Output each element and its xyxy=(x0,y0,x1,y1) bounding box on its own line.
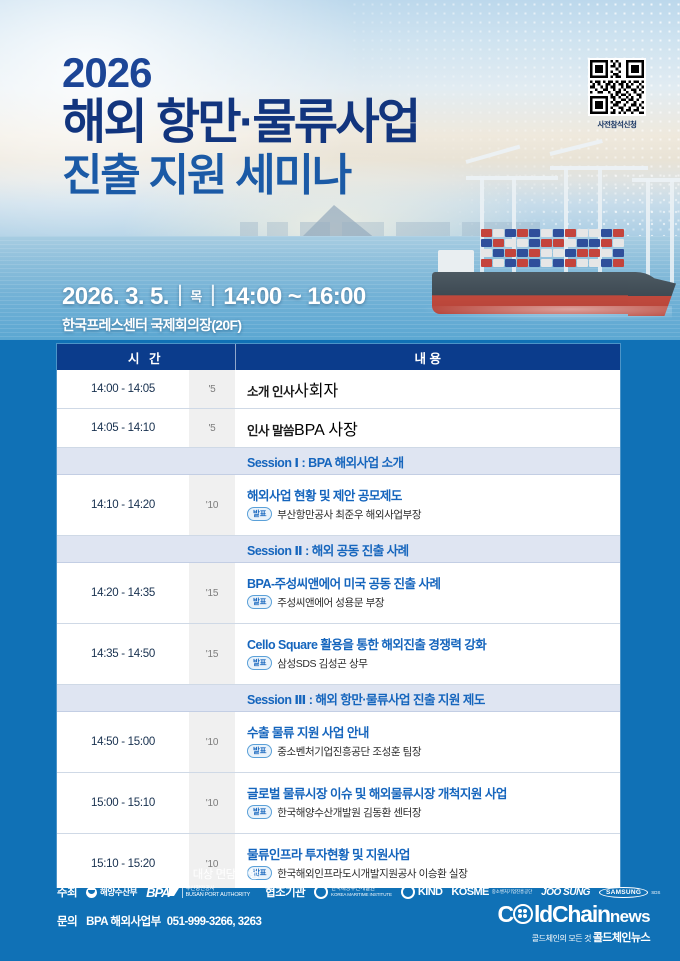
coldchain-wordmark: CldChainnews xyxy=(498,903,650,926)
session-label: Session Ⅰ : BPA 해외사업 소개 xyxy=(235,448,620,475)
tagline-big: 콜드체인뉴스 xyxy=(593,932,650,944)
row-title: Cello Square 활용을 통한 해외진출 경쟁력 강화 xyxy=(247,638,620,653)
row-content: Cello Square 활용을 통한 해외진출 경쟁력 강화 발표 삼성SDS… xyxy=(235,624,620,685)
tagline-small: 콜드체인의 모든 것 xyxy=(532,934,591,943)
logo-bpa: BPA 부산항만공사 BUSAN PORT AUTHORITY xyxy=(146,885,250,900)
logo-mof-label: 해양수산부 xyxy=(100,886,137,898)
logo-bpa-sub-en: BUSAN PORT AUTHORITY xyxy=(186,892,251,898)
schedule-table: 시 간 내 용 14:00 - 14:05 '5 소개 인사사회자 14:05 … xyxy=(57,344,620,935)
row-time: 14:00 - 14:05 xyxy=(57,370,189,409)
row-speaker: 발표 부산항만공사 최준우 해외사업부장 xyxy=(247,507,620,522)
row-time: 15:00 - 15:10 xyxy=(57,773,189,834)
logo-kind: KIND xyxy=(401,885,443,899)
session-header-row: Session Ⅲ : 해외 항만·물류사업 진출 지원 제도 xyxy=(57,685,620,712)
ship-bridge xyxy=(438,250,474,274)
session-spacer-duration xyxy=(189,685,235,712)
session-spacer-duration xyxy=(189,536,235,563)
session-spacer xyxy=(57,536,189,563)
speaker-name: 중소벤처기업진흥공단 조성훈 팀장 xyxy=(277,744,421,759)
event-date: 2026. 3. 5. xyxy=(62,283,169,310)
poster-title-line2: 진출 지원 세미나 xyxy=(62,151,582,200)
session-spacer-duration xyxy=(189,448,235,475)
presentation-badge: 발표 xyxy=(247,744,272,757)
session-label: Session Ⅱ : 해외 공동 진출 사례 xyxy=(235,536,620,563)
row-duration: '5 xyxy=(189,370,235,409)
logo-kmi-en: KOREA MARITIME INSTITUTE xyxy=(331,892,392,897)
row-content: BPA-주성씨앤에어 미국 공동 진출 사례 발표 주성씨앤에어 성용문 부장 xyxy=(235,563,620,624)
row-title: 해외사업 현황 및 제안 공모제도 xyxy=(247,489,620,504)
table-row: 15:00 - 15:10 '10 글로벌 물류시장 이슈 및 해외물류시장 개… xyxy=(57,773,620,834)
brand-oldchain: ldChain xyxy=(534,901,610,927)
logo-kosme: KOSME 중소벤처기업진흥공단 xyxy=(451,886,532,898)
container-stack xyxy=(480,238,624,247)
event-datetime: 2026. 3. 5.ㅣ목ㅣ14:00 ~ 16:00 xyxy=(62,276,366,311)
row-content: 소개 인사사회자 xyxy=(235,370,620,409)
table-row: 14:10 - 14:20 '10 해외사업 현황 및 제안 공모제도 발표 부… xyxy=(57,475,620,536)
ship-wake xyxy=(420,306,672,322)
brand-news: news xyxy=(610,907,650,926)
row-subtitle: BPA 사장 xyxy=(294,422,358,439)
speaker-name: 한국해외인프라도시개발지원공사 이승환 실장 xyxy=(277,866,467,881)
table-row: 14:50 - 15:00 '10 수출 물류 지원 사업 안내 발표 중소벤처… xyxy=(57,712,620,773)
session-spacer xyxy=(57,448,189,475)
speaker-name: 부산항만공사 최준우 해외사업부장 xyxy=(277,507,421,522)
contact-line: 문의BPA 해외사업부051-999-3266, 3263 xyxy=(57,913,261,929)
event-day-of-week: 목 xyxy=(190,289,201,304)
column-header-time: 시 간 xyxy=(57,344,235,370)
logo-kosme-subtext: 중소벤처기업진흥공단 xyxy=(492,889,532,895)
row-title: 글로벌 물류시장 이슈 및 해외물류시장 개척지원 사업 xyxy=(247,787,620,802)
row-speaker: 발표 중소벤처기업진흥공단 조성훈 팀장 xyxy=(247,744,620,759)
logo-bpa-sub-ko: 부산항만공사 xyxy=(186,886,215,892)
row-duration: '10 xyxy=(189,773,235,834)
logo-bpa-subtext: 부산항만공사 BUSAN PORT AUTHORITY xyxy=(182,886,251,899)
row-content: 수출 물류 지원 사업 안내 발표 중소벤처기업진흥공단 조성훈 팀장 xyxy=(235,712,620,773)
poster-year: 2026 xyxy=(62,52,582,94)
contact-department: BPA 해외사업부 xyxy=(86,916,161,928)
row-speaker: 발표 한국해외인프라도시개발지원공사 이승환 실장 xyxy=(247,866,620,881)
poster-title-line1: 해외 항만·물류사업 xyxy=(62,98,582,149)
row-duration: '15 xyxy=(189,624,235,685)
partner-label: 협조기관 xyxy=(265,884,305,900)
logo-kmi-text: 한국해양수산개발원 KOREA MARITIME INSTITUTE xyxy=(331,886,392,899)
separator-bar-left: ㅣ xyxy=(169,283,190,310)
seminar-poster: 사전참석신청 2026 해외 항만·물류사업 진출 지원 세미나 2026. 3… xyxy=(0,0,680,961)
event-venue: 한국프레스센터 국제회의장(20F) xyxy=(62,315,366,335)
row-duration: '10 xyxy=(189,475,235,536)
kmi-ring-icon xyxy=(314,885,328,899)
logo-samsung-label: SAMSUNG xyxy=(599,887,648,898)
row-time: 14:20 - 14:35 xyxy=(57,563,189,624)
logo-kmi: 한국해양수산개발원 KOREA MARITIME INSTITUTE xyxy=(314,885,392,899)
row-content: 해외사업 현황 및 제안 공모제도 발표 부산항만공사 최준우 해외사업부장 xyxy=(235,475,620,536)
coldchain-tagline: 콜드체인의 모든 것 콜드체인뉴스 xyxy=(498,929,650,945)
bpa-triangle-icon xyxy=(169,888,179,896)
row-content: 인사 말씀BPA 사장 xyxy=(235,409,620,448)
logo-samsung-sds: SAMSUNG SDS xyxy=(599,887,660,898)
event-time-range: 14:00 ~ 16:00 xyxy=(223,283,365,310)
event-meta: 2026. 3. 5.ㅣ목ㅣ14:00 ~ 16:00 한국프레스센터 국제회의… xyxy=(62,276,366,335)
wave-icon xyxy=(86,887,97,898)
row-speaker: 발표 삼성SDS 김성곤 상무 xyxy=(247,656,620,671)
container-stack xyxy=(480,228,624,237)
session-label: Session Ⅲ : 해외 항만·물류사업 진출 지원 제도 xyxy=(235,685,620,712)
row-title: 소개 인사 xyxy=(247,385,294,399)
contact-telephone: 051-999-3266, 3263 xyxy=(167,916,262,928)
row-time: 14:50 - 15:00 xyxy=(57,712,189,773)
schedule-body: 14:00 - 14:05 '5 소개 인사사회자 14:05 - 14:10 … xyxy=(57,370,620,935)
table-row: 14:00 - 14:05 '5 소개 인사사회자 xyxy=(57,370,620,409)
row-content: 글로벌 물류시장 이슈 및 해외물류시장 개척지원 사업 발표 한국해양수산개발… xyxy=(235,773,620,834)
row-title: 물류인프라 투자현황 및 지원사업 xyxy=(247,848,620,863)
logo-sds-label: SDS xyxy=(651,890,660,895)
row-time: 14:10 - 14:20 xyxy=(57,475,189,536)
session-spacer xyxy=(57,685,189,712)
column-header-content: 내 용 xyxy=(235,344,620,370)
coldchain-news-logo: CldChainnews 콜드체인의 모든 것 콜드체인뉴스 xyxy=(498,903,650,945)
kind-globe-icon xyxy=(401,885,415,899)
row-time: 14:35 - 14:50 xyxy=(57,624,189,685)
row-time: 14:05 - 14:10 xyxy=(57,409,189,448)
row-subtitle: 사회자 xyxy=(294,383,338,400)
container-stack xyxy=(480,258,624,267)
qr-code-block[interactable]: 사전참석신청 xyxy=(586,58,648,130)
presentation-badge: 발표 xyxy=(247,656,272,669)
table-row: 14:20 - 14:35 '15 BPA-주성씨앤에어 미국 공동 진출 사례… xyxy=(57,563,620,624)
table-row: 14:35 - 14:50 '15 Cello Square 활용을 통한 해외… xyxy=(57,624,620,685)
brand-letter-c: C xyxy=(498,901,513,927)
presentation-badge: 발표 xyxy=(247,595,272,608)
poster-title-block: 2026 해외 항만·물류사업 진출 지원 세미나 xyxy=(62,52,582,200)
logo-kmi-ko: 한국해양수산개발원 xyxy=(331,886,375,892)
session-header-row: Session Ⅱ : 해외 공동 진출 사례 xyxy=(57,536,620,563)
row-speaker: 발표 한국해양수산개발원 김동환 센터장 xyxy=(247,805,620,820)
row-duration: '5 xyxy=(189,409,235,448)
qr-code-icon[interactable] xyxy=(588,58,646,116)
logo-kind-label: KIND xyxy=(418,886,443,898)
speaker-name: 삼성SDS 김성곤 상무 xyxy=(277,656,367,671)
speaker-name: 한국해양수산개발원 김동환 센터장 xyxy=(277,805,421,820)
schedule-footnote: * Q&A 종료 후, 사전신청 기업 대상 면담 진행 xyxy=(57,866,259,882)
presentation-badge: 발표 xyxy=(247,805,272,818)
row-title: 수출 물류 지원 사업 안내 xyxy=(247,726,620,741)
qr-caption: 사전참석신청 xyxy=(586,119,648,130)
row-duration: '10 xyxy=(189,712,235,773)
sponsor-logo-row: 주최 해양수산부 BPA 부산항만공사 BUSAN PORT AUTHORITY… xyxy=(57,884,660,900)
row-duration: '15 xyxy=(189,563,235,624)
table-row: 14:05 - 14:10 '5 인사 말씀BPA 사장 xyxy=(57,409,620,448)
logo-bpa-wordmark: BPA xyxy=(146,885,178,900)
schedule-header-row: 시 간 내 용 xyxy=(57,344,620,370)
row-speaker: 발표 주성씨앤에어 성용문 부장 xyxy=(247,595,620,610)
row-title: BPA-주성씨앤에어 미국 공동 진출 사례 xyxy=(247,577,620,592)
presentation-badge: 발표 xyxy=(247,507,272,520)
separator-bar-right: ㅣ xyxy=(202,283,223,310)
snowflake-o-icon xyxy=(513,904,533,924)
speaker-name: 주성씨앤에어 성용문 부장 xyxy=(277,595,384,610)
container-stack xyxy=(480,248,624,257)
row-title: 인사 말씀 xyxy=(247,424,294,438)
logo-kosme-label: KOSME xyxy=(451,886,488,898)
host-label: 주최 xyxy=(57,884,77,900)
logo-mof: 해양수산부 xyxy=(86,886,137,898)
logo-joosung: JOO SUNG xyxy=(541,887,590,898)
container-ship xyxy=(420,210,670,320)
contact-label: 문의 xyxy=(57,916,77,928)
session-header-row: Session Ⅰ : BPA 해외사업 소개 xyxy=(57,448,620,475)
